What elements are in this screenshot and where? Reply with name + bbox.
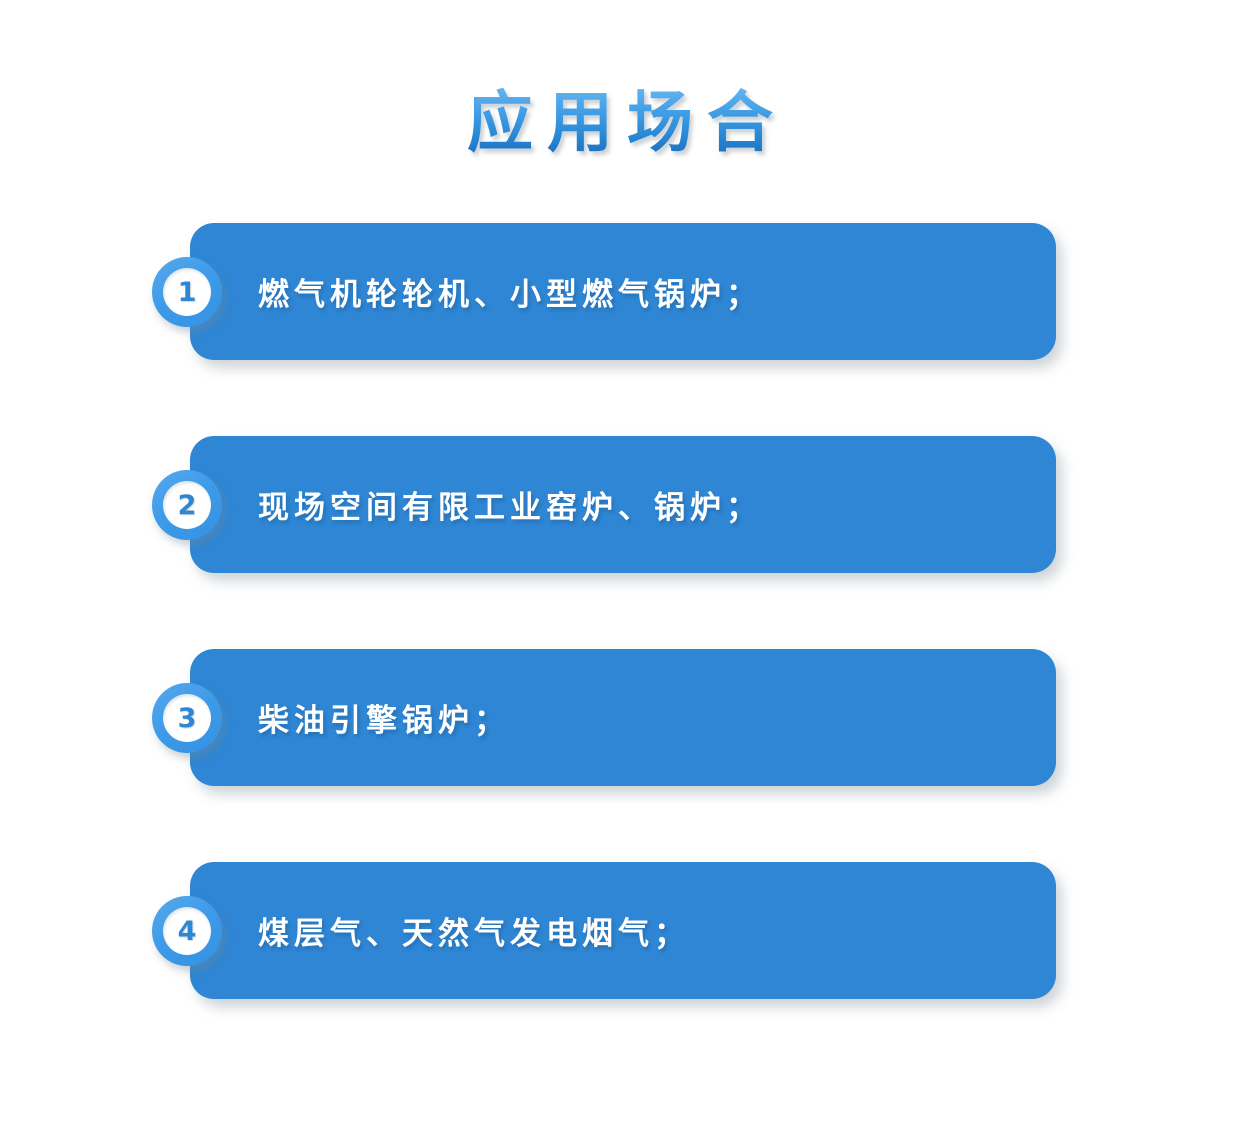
scenario-number-badge: 3 — [152, 683, 222, 753]
badge-inner-circle: 2 — [163, 481, 211, 529]
badge-number: 2 — [178, 492, 197, 519]
list-item[interactable]: 煤层气、天然气发电烟气； 4 — [0, 862, 1240, 999]
scenario-number-badge: 2 — [152, 470, 222, 540]
badge-inner-circle: 1 — [163, 268, 211, 316]
badge-number: 3 — [178, 705, 197, 732]
application-scenarios-page: 应用场合 燃气机轮轮机、小型燃气锅炉； 1 现场空间有限工业窑炉、锅炉； 2 — [0, 0, 1240, 1131]
scenario-card-body[interactable]: 燃气机轮轮机、小型燃气锅炉； — [190, 223, 1056, 360]
list-item[interactable]: 现场空间有限工业窑炉、锅炉； 2 — [0, 436, 1240, 573]
list-item[interactable]: 柴油引擎锅炉； 3 — [0, 649, 1240, 786]
badge-inner-circle: 4 — [163, 907, 211, 955]
scenario-card-label: 煤层气、天然气发电烟气； — [258, 862, 690, 999]
scenario-list: 燃气机轮轮机、小型燃气锅炉； 1 现场空间有限工业窑炉、锅炉； 2 柴油引擎锅炉… — [0, 223, 1240, 999]
scenario-card-body[interactable]: 现场空间有限工业窑炉、锅炉； — [190, 436, 1056, 573]
scenario-number-badge: 1 — [152, 257, 222, 327]
scenario-card-label: 现场空间有限工业窑炉、锅炉； — [258, 436, 762, 573]
scenario-card-body[interactable]: 柴油引擎锅炉； — [190, 649, 1056, 786]
scenario-card-label: 燃气机轮轮机、小型燃气锅炉； — [258, 223, 762, 360]
scenario-card-label: 柴油引擎锅炉； — [258, 649, 510, 786]
badge-inner-circle: 3 — [163, 694, 211, 742]
page-header: 应用场合 — [0, 44, 1240, 202]
scenario-card-body[interactable]: 煤层气、天然气发电烟气； — [190, 862, 1056, 999]
scenario-number-badge: 4 — [152, 896, 222, 966]
badge-number: 1 — [178, 279, 197, 306]
list-item[interactable]: 燃气机轮轮机、小型燃气锅炉； 1 — [0, 223, 1240, 360]
page-title: 应用场合 — [453, 88, 787, 157]
badge-number: 4 — [178, 918, 197, 945]
